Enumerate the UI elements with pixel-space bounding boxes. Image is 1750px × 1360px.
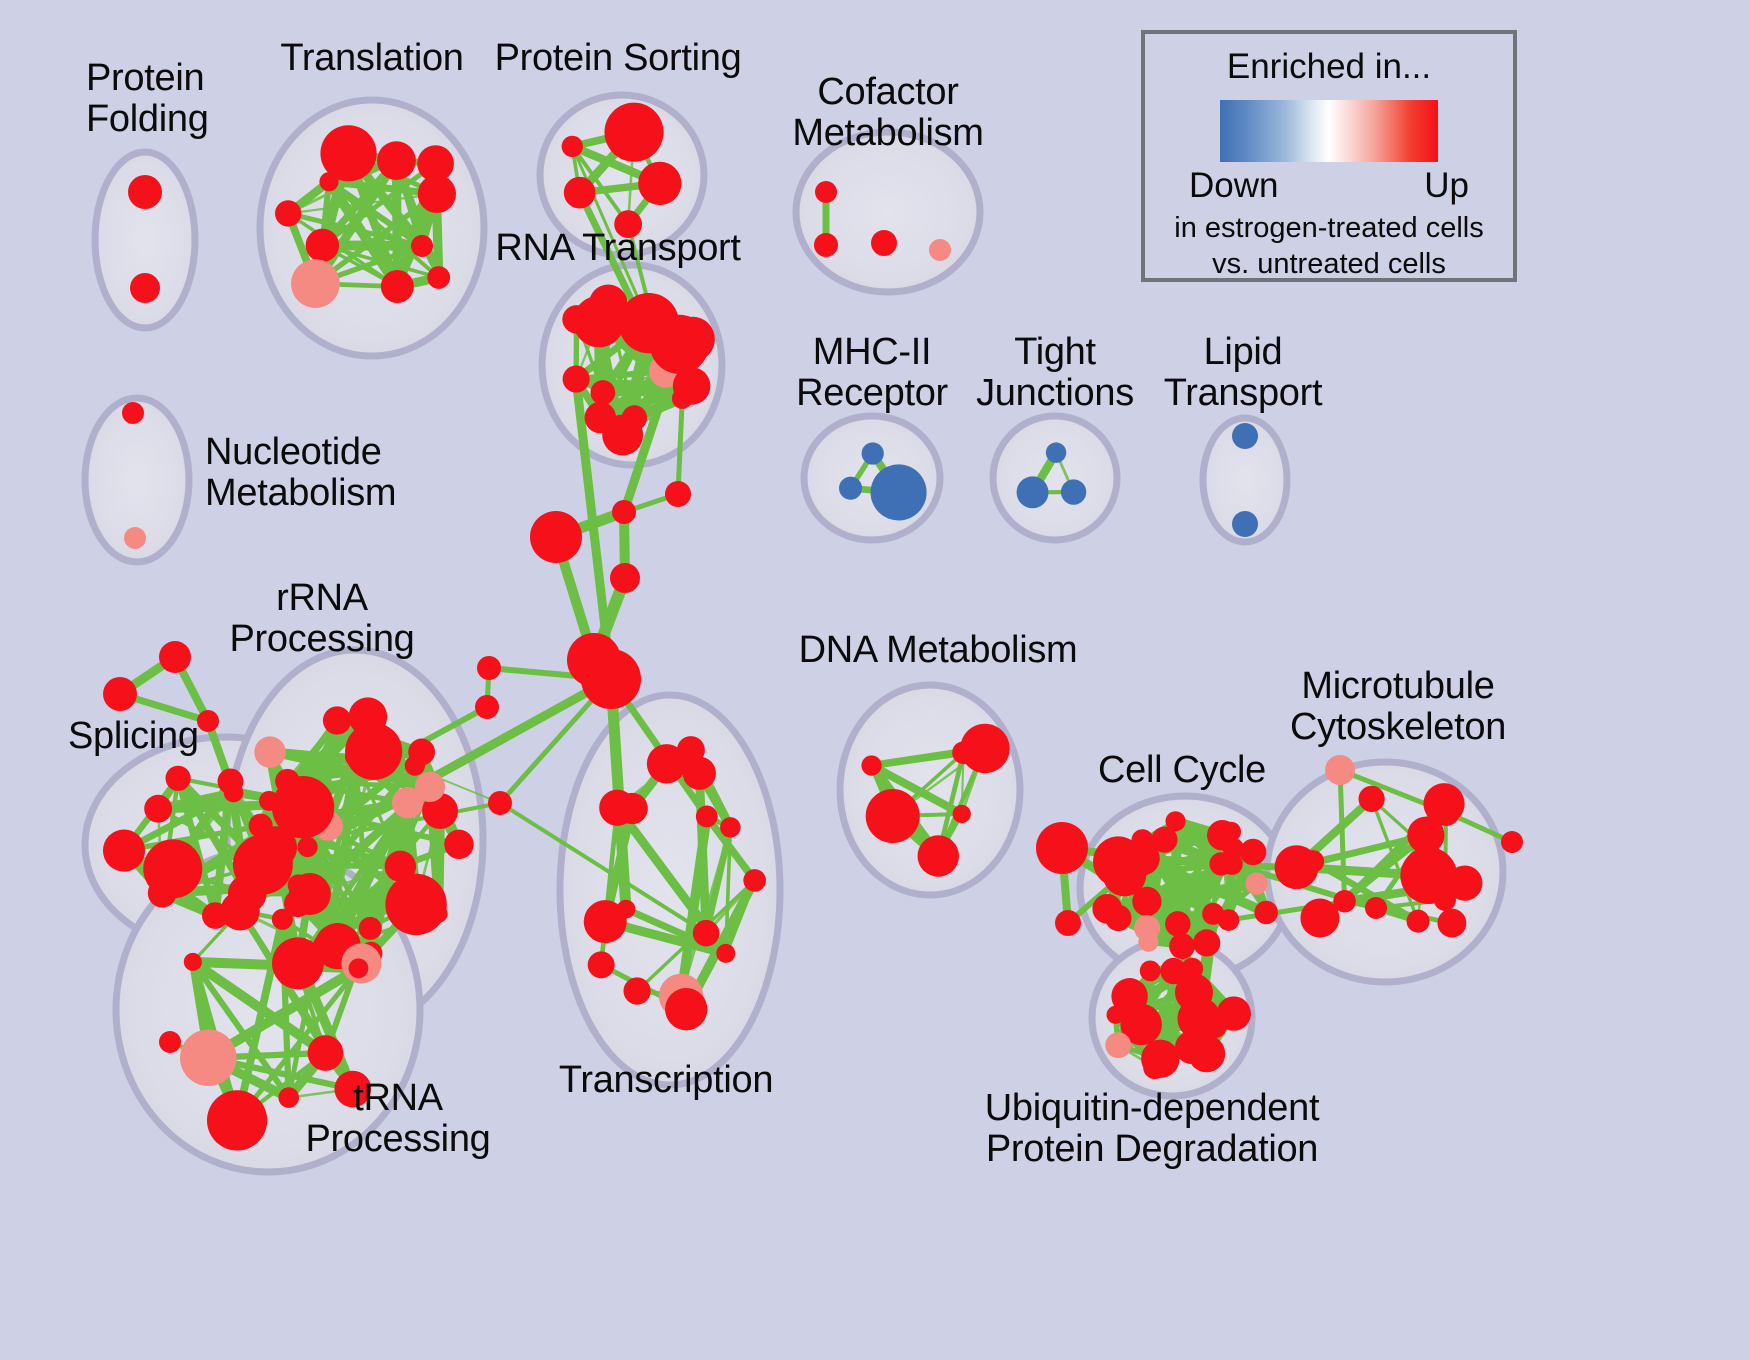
network-node-rrna-processing[interactable] bbox=[359, 917, 382, 940]
network-node-ubiquitin-degradation[interactable] bbox=[1188, 1035, 1225, 1072]
cluster-label-tight-junctions: Tight Junctions bbox=[976, 332, 1134, 414]
network-node-rrna-processing[interactable] bbox=[275, 769, 300, 794]
network-node-rrna-processing[interactable] bbox=[323, 706, 351, 734]
network-node-cell-cycle[interactable] bbox=[1218, 909, 1240, 931]
legend-title: Enriched in... bbox=[1145, 47, 1513, 87]
network-node-splicing[interactable] bbox=[103, 829, 145, 871]
network-node-cofactor-metabolism[interactable] bbox=[815, 181, 837, 203]
cluster-label-microtubule-cytoskeleton: Microtubule Cytoskeleton bbox=[1290, 666, 1506, 748]
cluster-label-mhc-ii-receptor: MHC-II Receptor bbox=[796, 332, 948, 414]
cluster-label-protein-sorting: Protein Sorting bbox=[495, 38, 742, 79]
network-node-transcription[interactable] bbox=[584, 900, 627, 943]
network-node-mhc-ii-receptor[interactable] bbox=[839, 477, 862, 500]
cluster-label-splicing: Splicing bbox=[68, 716, 199, 757]
network-node-microtubule-cytoskeleton[interactable] bbox=[1358, 786, 1384, 812]
network-node-trna-processing[interactable] bbox=[272, 909, 293, 930]
network-node-dna-metabolism[interactable] bbox=[866, 789, 920, 843]
cluster-label-dna-metabolism: DNA Metabolism bbox=[799, 630, 1078, 671]
network-node-translation[interactable] bbox=[381, 270, 414, 303]
network-node-bridge[interactable] bbox=[581, 649, 641, 709]
network-node-cell-cycle[interactable] bbox=[1193, 929, 1220, 956]
cluster-label-rrna-processing: rRNA Processing bbox=[230, 578, 415, 660]
network-node-trna-processing[interactable] bbox=[278, 1087, 299, 1108]
network-node-rrna-processing[interactable] bbox=[249, 814, 273, 838]
network-node-splicing[interactable] bbox=[218, 768, 244, 794]
network-node-trna-processing[interactable] bbox=[184, 953, 202, 971]
network-node-cell-cycle[interactable] bbox=[1221, 822, 1241, 842]
network-figure: Protein FoldingTranslationNucleotide Met… bbox=[0, 0, 1750, 1360]
network-node-bridge[interactable] bbox=[1501, 831, 1523, 853]
network-node-microtubule-cytoskeleton[interactable] bbox=[1275, 845, 1319, 889]
legend-colorbar bbox=[1220, 100, 1438, 162]
network-node-rrna-processing[interactable] bbox=[429, 905, 447, 923]
network-node-bridge[interactable] bbox=[1432, 798, 1460, 826]
cluster-label-ubiquitin-degradation: Ubiquitin-dependent Protein Degradation bbox=[985, 1088, 1319, 1170]
network-node-cell-cycle[interactable] bbox=[1240, 839, 1266, 865]
network-node-bridge[interactable] bbox=[612, 500, 636, 524]
network-node-bridge[interactable] bbox=[665, 481, 691, 507]
network-node-mhc-ii-receptor[interactable] bbox=[871, 464, 927, 520]
network-node-transcription[interactable] bbox=[720, 817, 741, 838]
network-node-splicing[interactable] bbox=[165, 766, 190, 791]
network-node-dna-metabolism[interactable] bbox=[953, 805, 971, 823]
network-node-rna-transport[interactable] bbox=[589, 285, 628, 324]
network-node-dna-metabolism[interactable] bbox=[960, 724, 1009, 773]
network-node-rrna-processing[interactable] bbox=[254, 736, 285, 767]
network-node-bridge[interactable] bbox=[477, 656, 501, 680]
network-node-bridge[interactable] bbox=[1434, 889, 1456, 911]
legend-caption-line1: in estrogen-treated cells bbox=[1145, 212, 1513, 246]
network-node-bridge[interactable] bbox=[475, 695, 499, 719]
network-node-nucleotide-metabolism[interactable] bbox=[122, 402, 144, 424]
legend-panel: Enriched in... Down Up in estrogen-treat… bbox=[1141, 30, 1517, 282]
cluster-label-lipid-transport: Lipid Transport bbox=[1164, 332, 1323, 414]
network-node-ubiquitin-degradation[interactable] bbox=[1143, 1056, 1166, 1079]
network-node-translation[interactable] bbox=[306, 229, 339, 262]
network-node-lipid-transport[interactable] bbox=[1232, 423, 1258, 449]
network-node-cell-cycle[interactable] bbox=[1165, 911, 1190, 936]
network-node-mhc-ii-receptor[interactable] bbox=[862, 442, 884, 464]
cluster-label-rna-transport: RNA Transport bbox=[495, 228, 740, 269]
network-node-transcription[interactable] bbox=[623, 977, 650, 1004]
network-node-ubiquitin-degradation[interactable] bbox=[1107, 1006, 1125, 1024]
network-node-bridge[interactable] bbox=[530, 511, 582, 563]
network-node-rrna-processing[interactable] bbox=[349, 697, 388, 736]
network-node-trna-processing[interactable] bbox=[207, 1090, 267, 1150]
network-node-rna-transport[interactable] bbox=[563, 366, 590, 393]
cluster-hull-tight-junctions bbox=[993, 416, 1117, 540]
cluster-label-transcription: Transcription bbox=[559, 1060, 773, 1101]
network-node-protein-sorting[interactable] bbox=[562, 136, 583, 157]
network-node-rrna-processing[interactable] bbox=[408, 739, 435, 766]
network-node-trna-processing[interactable] bbox=[349, 958, 369, 978]
network-node-bridge[interactable] bbox=[197, 710, 219, 732]
network-node-bridge[interactable] bbox=[159, 1031, 181, 1053]
network-node-ubiquitin-degradation[interactable] bbox=[1217, 996, 1251, 1030]
network-node-cell-cycle[interactable] bbox=[1093, 836, 1143, 886]
network-node-protein-sorting[interactable] bbox=[564, 177, 596, 209]
network-node-transcription[interactable] bbox=[677, 736, 705, 764]
network-node-bridge[interactable] bbox=[610, 563, 640, 593]
network-node-protein-sorting[interactable] bbox=[604, 103, 663, 162]
legend-low-label: Down bbox=[1189, 166, 1278, 206]
cluster-label-protein-folding: Protein Folding bbox=[86, 58, 209, 140]
network-node-translation[interactable] bbox=[427, 266, 450, 289]
network-node-lipid-transport[interactable] bbox=[1232, 511, 1258, 537]
network-node-protein-sorting[interactable] bbox=[638, 162, 681, 205]
legend-high-label: Up bbox=[1424, 166, 1469, 206]
network-node-splicing[interactable] bbox=[148, 879, 177, 908]
network-node-bridge[interactable] bbox=[159, 641, 191, 673]
network-node-translation[interactable] bbox=[377, 141, 416, 180]
network-node-rna-transport[interactable] bbox=[602, 415, 643, 456]
network-node-translation[interactable] bbox=[411, 235, 433, 257]
network-node-dna-metabolism[interactable] bbox=[861, 755, 881, 775]
network-node-cell-cycle[interactable] bbox=[1245, 873, 1267, 895]
network-node-trna-processing[interactable] bbox=[308, 1035, 344, 1071]
network-node-translation[interactable] bbox=[291, 259, 340, 308]
network-node-splicing[interactable] bbox=[144, 795, 172, 823]
network-node-translation[interactable] bbox=[275, 200, 301, 226]
cluster-label-trna-processing: tRNA Processing bbox=[306, 1078, 491, 1160]
network-node-trna-processing[interactable] bbox=[180, 1029, 237, 1086]
network-node-ubiquitin-degradation[interactable] bbox=[1181, 958, 1203, 980]
network-node-cell-cycle[interactable] bbox=[1169, 933, 1195, 959]
network-node-microtubule-cytoskeleton[interactable] bbox=[1300, 898, 1339, 937]
network-node-transcription[interactable] bbox=[716, 944, 735, 963]
network-node-cofactor-metabolism[interactable] bbox=[814, 233, 838, 257]
network-node-rrna-processing[interactable] bbox=[444, 830, 473, 859]
network-node-bridge[interactable] bbox=[1055, 910, 1081, 936]
network-node-tight-junctions[interactable] bbox=[1017, 476, 1049, 508]
network-node-rna-transport[interactable] bbox=[673, 367, 711, 405]
network-node-rrna-processing[interactable] bbox=[259, 791, 279, 811]
network-node-cell-cycle[interactable] bbox=[1138, 932, 1158, 952]
cluster-label-cofactor-metabolism: Cofactor Metabolism bbox=[792, 72, 983, 154]
network-node-ubiquitin-degradation[interactable] bbox=[1105, 1032, 1131, 1058]
network-node-bridge[interactable] bbox=[103, 677, 137, 711]
network-node-bridge[interactable] bbox=[1036, 822, 1088, 874]
network-node-protein-folding[interactable] bbox=[130, 273, 160, 303]
network-node-rrna-processing[interactable] bbox=[415, 772, 445, 802]
network-node-rna-transport[interactable] bbox=[590, 380, 615, 405]
legend-caption-line2: vs. untreated cells bbox=[1145, 248, 1513, 282]
network-node-transcription[interactable] bbox=[696, 806, 718, 828]
network-node-rrna-processing[interactable] bbox=[297, 837, 317, 857]
network-node-transcription[interactable] bbox=[743, 869, 766, 892]
network-node-bridge[interactable] bbox=[1365, 897, 1387, 919]
network-node-rrna-processing[interactable] bbox=[272, 937, 324, 989]
network-node-dna-metabolism[interactable] bbox=[918, 835, 959, 876]
cluster-label-nucleotide-metabolism: Nucleotide Metabolism bbox=[205, 432, 396, 514]
network-node-nucleotide-metabolism[interactable] bbox=[124, 527, 146, 549]
network-node-trna-processing[interactable] bbox=[220, 891, 259, 930]
network-node-transcription[interactable] bbox=[693, 920, 720, 947]
network-node-ubiquitin-degradation[interactable] bbox=[1140, 960, 1161, 981]
network-node-transcription[interactable] bbox=[665, 988, 707, 1030]
network-node-bridge[interactable] bbox=[488, 791, 512, 815]
network-node-transcription[interactable] bbox=[588, 951, 615, 978]
cluster-label-cell-cycle: Cell Cycle bbox=[1098, 750, 1266, 791]
network-node-cell-cycle[interactable] bbox=[1092, 894, 1122, 924]
network-node-cell-cycle[interactable] bbox=[1165, 811, 1185, 831]
network-node-protein-folding[interactable] bbox=[128, 175, 162, 209]
network-node-tight-junctions[interactable] bbox=[1046, 442, 1066, 462]
network-node-rna-transport[interactable] bbox=[670, 317, 715, 362]
network-node-cell-cycle[interactable] bbox=[1254, 901, 1278, 925]
network-node-cofactor-metabolism[interactable] bbox=[929, 239, 951, 261]
network-node-microtubule-cytoskeleton[interactable] bbox=[1437, 909, 1466, 938]
network-node-rrna-processing[interactable] bbox=[385, 874, 446, 935]
network-node-translation[interactable] bbox=[417, 145, 454, 182]
network-node-rna-transport[interactable] bbox=[562, 305, 590, 333]
network-node-bridge[interactable] bbox=[1325, 755, 1355, 785]
network-node-tight-junctions[interactable] bbox=[1061, 479, 1086, 504]
network-node-microtubule-cytoskeleton[interactable] bbox=[1407, 910, 1430, 933]
network-node-translation[interactable] bbox=[320, 125, 376, 181]
cluster-label-translation: Translation bbox=[280, 38, 463, 79]
network-node-transcription[interactable] bbox=[599, 790, 635, 826]
network-node-cofactor-metabolism[interactable] bbox=[871, 230, 897, 256]
